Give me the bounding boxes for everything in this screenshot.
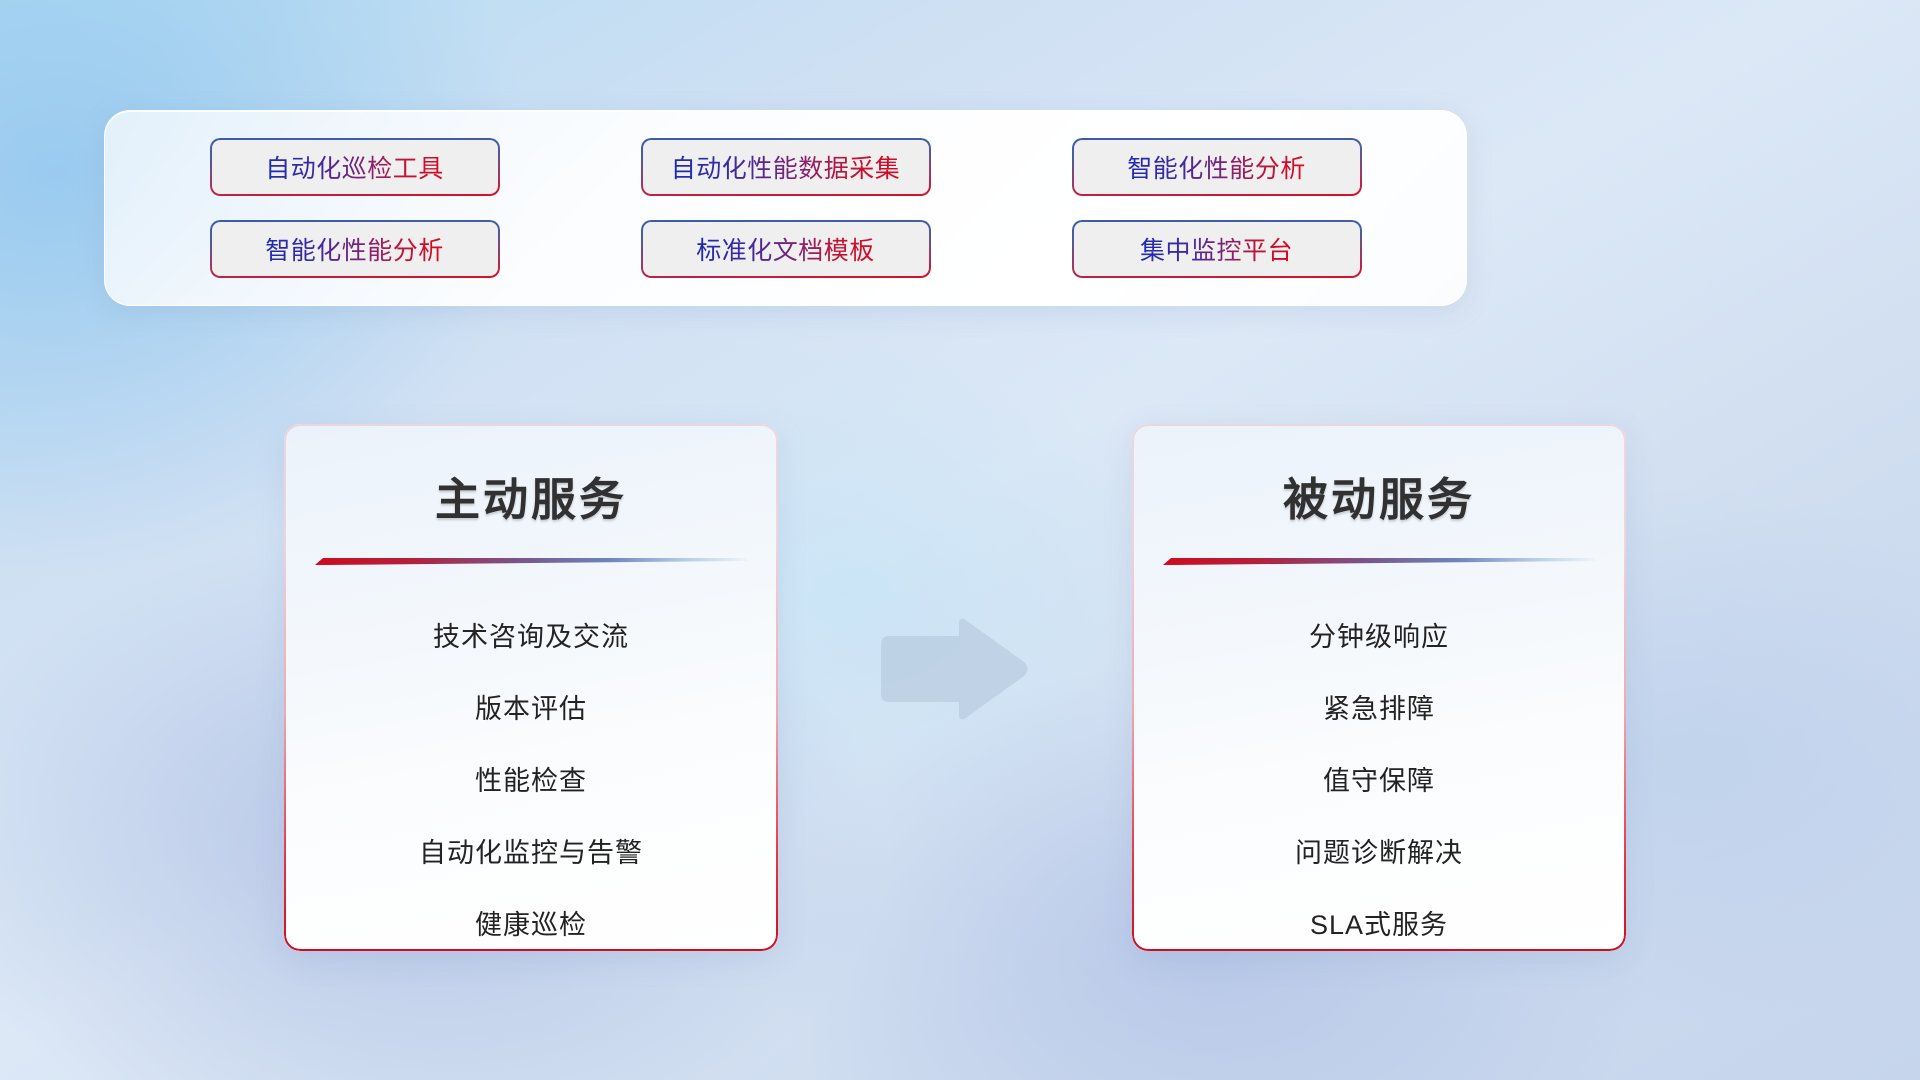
list-item: 自动化监控与告警: [419, 817, 643, 889]
list-item: 健康巡检: [475, 889, 587, 951]
capability-chip-grid: 自动化巡检工具 自动化性能数据采集 智能化性能分析 智能化性能分析 标准化文档模…: [105, 111, 1466, 305]
capability-chip-label: 自动化性能数据采集: [671, 149, 901, 185]
capability-chip-label: 自动化巡检工具: [265, 149, 444, 185]
slide-canvas: 自动化巡检工具 自动化性能数据采集 智能化性能分析 智能化性能分析 标准化文档模…: [0, 0, 1920, 1080]
list-item: 分钟级响应: [1309, 601, 1449, 673]
list-item: 问题诊断解决: [1295, 817, 1463, 889]
arrow-right-icon: [869, 614, 1031, 724]
service-item-list: 技术咨询及交流 版本评估 性能检查 自动化监控与告警 健康巡检: [284, 601, 778, 951]
service-card-title: 主动服务: [284, 463, 778, 528]
service-card-passive: 被动服务 分钟级响应 紧急排障 值守保障: [1132, 424, 1626, 951]
capability-chip[interactable]: 智能化性能分析: [210, 220, 500, 278]
list-item: 版本评估: [475, 673, 587, 745]
list-item: 性能检查: [475, 745, 587, 817]
capability-chip[interactable]: 自动化性能数据采集: [641, 138, 931, 196]
service-card-active: 主动服务 技术咨询及交流 版本评估 性能检查: [284, 424, 778, 951]
capability-chip-label: 智能化性能分析: [265, 231, 444, 267]
list-item: 技术咨询及交流: [433, 601, 629, 673]
title-divider: [315, 553, 747, 563]
capability-chip[interactable]: 集中监控平台: [1072, 220, 1362, 278]
capability-chip[interactable]: 标准化文档模板: [641, 220, 931, 278]
title-divider: [1163, 553, 1595, 563]
capability-chip[interactable]: 自动化巡检工具: [210, 138, 500, 196]
capability-chip-label: 集中监控平台: [1140, 231, 1293, 267]
list-item: 值守保障: [1323, 745, 1435, 817]
capabilities-panel: 自动化巡检工具 自动化性能数据采集 智能化性能分析 智能化性能分析 标准化文档模…: [104, 110, 1467, 306]
capability-chip[interactable]: 智能化性能分析: [1072, 138, 1362, 196]
service-card-title: 被动服务: [1132, 463, 1626, 528]
service-item-list: 分钟级响应 紧急排障 值守保障 问题诊断解决 SLA式服务: [1132, 601, 1626, 951]
capability-chip-label: 标准化文档模板: [696, 231, 875, 267]
capability-chip-label: 智能化性能分析: [1127, 149, 1306, 185]
list-item: SLA式服务: [1310, 889, 1448, 951]
list-item: 紧急排障: [1323, 673, 1435, 745]
